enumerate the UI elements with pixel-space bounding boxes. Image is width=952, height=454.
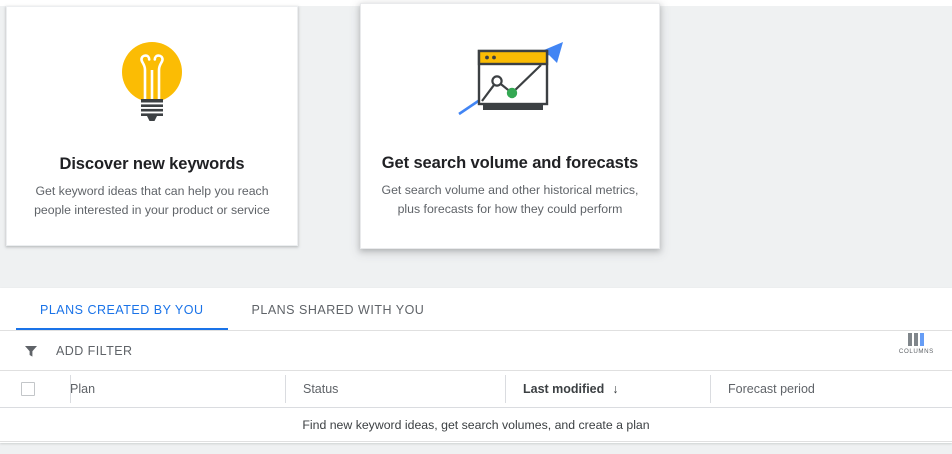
- sort-descending-icon[interactable]: ↓: [612, 382, 618, 396]
- forecast-chart-icon: [361, 4, 659, 154]
- column-header-label: Last modified: [523, 382, 604, 396]
- column-header-forecast-period[interactable]: Forecast period: [710, 371, 952, 407]
- column-header-plan[interactable]: Plan: [70, 371, 285, 407]
- filter-toolbar: ADD FILTER COLUMNS: [0, 331, 952, 371]
- column-divider: [70, 375, 71, 403]
- add-filter-label: ADD FILTER: [56, 344, 133, 358]
- columns-icon: [908, 333, 924, 346]
- card-get-search-volume-and-forecasts[interactable]: Get search volume and forecasts Get sear…: [360, 3, 660, 249]
- column-header-label: Status: [303, 382, 338, 396]
- card-description: Get search volume and other historical m…: [361, 181, 659, 219]
- table-empty-state-row: Find new keyword ideas, get search volum…: [0, 408, 952, 442]
- column-header-label: Plan: [70, 382, 95, 396]
- card-title: Get search volume and forecasts: [382, 154, 638, 172]
- card-description: Get keyword ideas that can help you reac…: [7, 182, 297, 220]
- funnel-icon: [24, 344, 56, 358]
- column-divider: [505, 375, 506, 403]
- tabs-row: PLANS CREATED BY YOU PLANS SHARED WITH Y…: [0, 288, 952, 331]
- tab-plans-shared-with-you[interactable]: PLANS SHARED WITH YOU: [228, 288, 449, 330]
- add-filter-button[interactable]: ADD FILTER: [24, 344, 133, 358]
- columns-label: COLUMNS: [899, 348, 934, 355]
- card-discover-new-keywords[interactable]: Discover new keywords Get keyword ideas …: [6, 6, 298, 246]
- card-title: Discover new keywords: [60, 155, 245, 173]
- column-header-label: Forecast period: [728, 382, 815, 396]
- empty-state-message: Find new keyword ideas, get search volum…: [302, 418, 649, 432]
- column-header-last-modified[interactable]: Last modified ↓: [505, 371, 710, 407]
- tab-plans-created-by-you[interactable]: PLANS CREATED BY YOU: [16, 288, 228, 330]
- action-cards-strip: Discover new keywords Get keyword ideas …: [0, 0, 952, 282]
- tabs: PLANS CREATED BY YOU PLANS SHARED WITH Y…: [0, 288, 952, 330]
- columns-button[interactable]: COLUMNS: [894, 333, 938, 355]
- column-divider: [710, 375, 711, 403]
- select-all-checkbox[interactable]: [21, 382, 35, 396]
- column-header-status[interactable]: Status: [285, 371, 505, 407]
- plans-panel: PLANS CREATED BY YOU PLANS SHARED WITH Y…: [0, 288, 952, 443]
- table-header-row: Plan Status Last modified ↓ Forecast per…: [0, 371, 952, 408]
- column-divider: [285, 375, 286, 403]
- lightbulb-icon: [7, 7, 297, 155]
- select-all-cell: [0, 371, 70, 407]
